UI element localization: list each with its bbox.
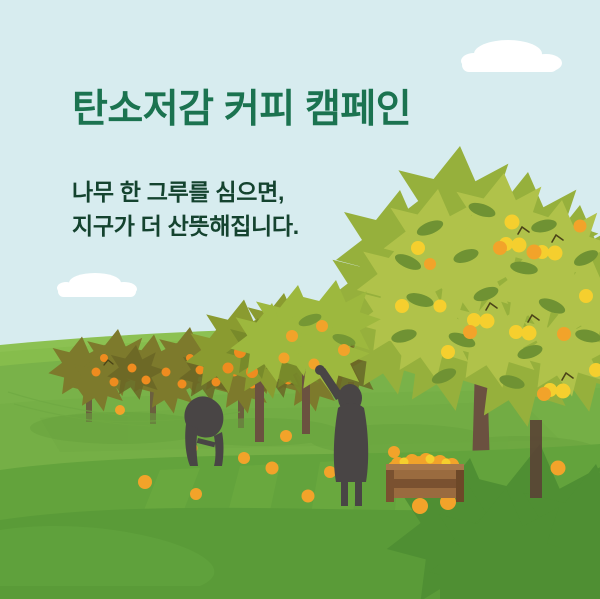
ground-fruit <box>551 461 566 476</box>
crate-slat-2 <box>390 479 460 488</box>
ground-fruit <box>388 446 400 458</box>
crate-slat-3 <box>390 488 460 498</box>
ground-fruit <box>412 498 428 514</box>
ground-fruit <box>324 466 336 478</box>
crate-rim <box>386 464 464 470</box>
subtitle-line-1: 나무 한 그루를 심으면, <box>72 175 542 209</box>
poster-text-block: 탄소저감 커피 캠페인 나무 한 그루를 심으면, 지구가 더 산뜻해집니다. <box>72 88 542 243</box>
ground-fruit <box>115 405 125 415</box>
ground-fruit <box>302 490 315 503</box>
subtitle-line-2: 지구가 더 산뜻해집니다. <box>72 209 542 243</box>
page-title: 탄소저감 커피 캠페인 <box>72 88 542 133</box>
right-bg-trunk <box>530 420 542 498</box>
ground-fruit <box>238 452 250 464</box>
ground-fruit <box>266 462 279 475</box>
page-subtitle: 나무 한 그루를 심으면, 지구가 더 산뜻해집니다. <box>72 133 542 243</box>
ground-fruit <box>190 488 202 500</box>
fruit-crate <box>386 453 464 502</box>
crate-side-right <box>456 466 464 502</box>
ground-fruit <box>280 430 292 442</box>
crate-side-left <box>386 466 394 502</box>
campaign-poster: 탄소저감 커피 캠페인 나무 한 그루를 심으면, 지구가 더 산뜻해집니다. <box>0 0 600 599</box>
ground-fruit <box>138 475 152 489</box>
crate-slat-1 <box>390 470 460 479</box>
